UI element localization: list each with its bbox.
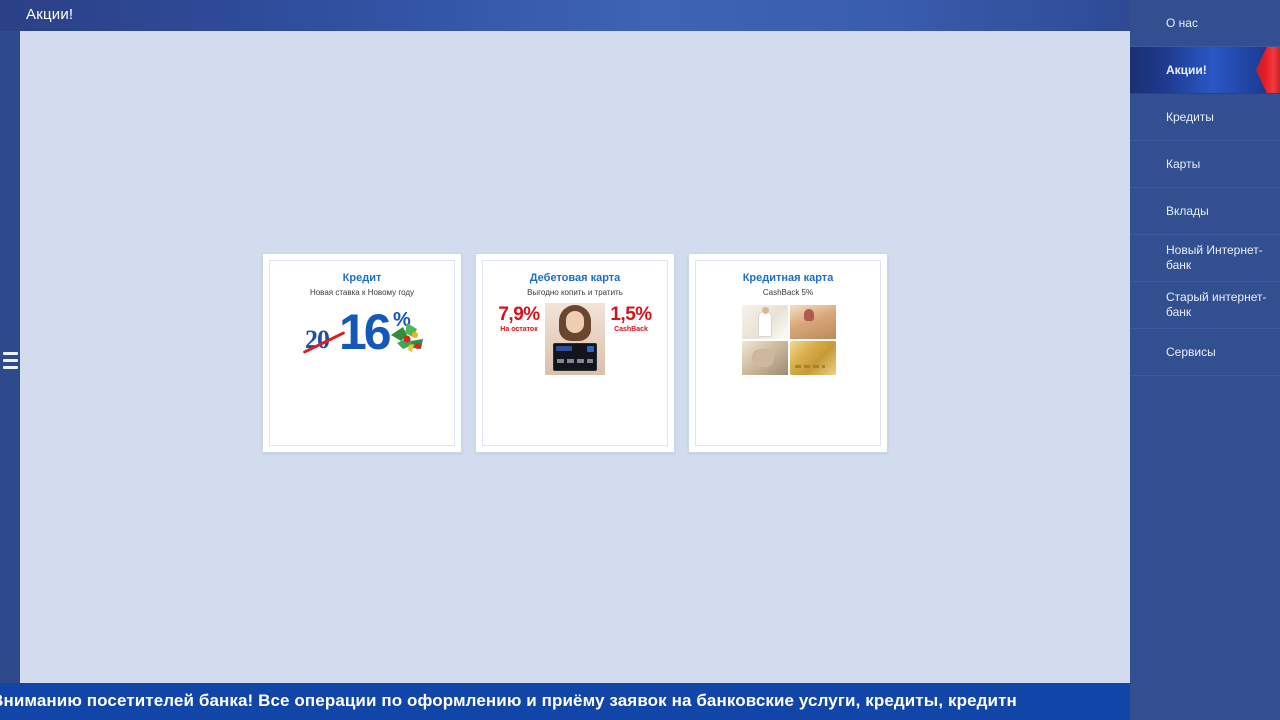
promo-card-subtitle: Новая ставка к Новому году: [278, 287, 446, 299]
sidebar-menu: О нас Акции! Кредиты Карты Вклады Новый …: [1130, 0, 1280, 720]
sidebar-item-label: Старый интернет-банк: [1166, 290, 1272, 320]
promo-card-subtitle: CashBack 5%: [704, 287, 872, 299]
rate-right-caption: CashBack: [607, 325, 655, 335]
rate-right-value: 1,5%: [607, 305, 655, 324]
sidebar-item-label: Вклады: [1166, 204, 1209, 219]
news-ticker: нка! Вниманию посетителей банка! Все опе…: [0, 683, 1280, 720]
sidebar-item-label: Сервисы: [1166, 345, 1216, 360]
page-title: Акции!: [26, 6, 73, 23]
hamburger-line: [3, 366, 18, 369]
promo-card-inner: Кредитная карта CashBack 5%: [695, 260, 881, 446]
holly-decoration-icon: [387, 317, 427, 357]
page-root: Кредит Новая ставка к Новому году 20 16 …: [0, 0, 1280, 720]
hamburger-icon[interactable]: [3, 352, 18, 369]
rate-left-caption: На остаток: [495, 325, 543, 335]
left-rail: [0, 0, 20, 720]
gold-card-photo: [790, 341, 836, 375]
sidebar-item-services[interactable]: Сервисы: [1130, 329, 1280, 376]
sidebar-item-old-internet-bank[interactable]: Старый интернет-банк: [1130, 282, 1280, 329]
family-photo: [742, 341, 788, 375]
promo-card-title: Кредитная карта: [704, 271, 872, 285]
bank-card-graphic: [553, 343, 597, 371]
sidebar-item-promotions[interactable]: Акции!: [1130, 47, 1280, 94]
hamburger-line: [3, 352, 18, 355]
sidebar-item-label: О нас: [1166, 16, 1198, 31]
promo-card-inner: Кредит Новая ставка к Новому году 20 16 …: [269, 260, 455, 446]
content-panel: Кредит Новая ставка к Новому году 20 16 …: [20, 31, 1130, 683]
promo-card-debit[interactable]: Дебетовая карта Выгодно копить и тратить…: [475, 253, 675, 453]
wine-photo: [790, 305, 836, 339]
card-number-strip: [557, 359, 593, 363]
sidebar-item-label: Карты: [1166, 157, 1200, 172]
card-chip-icon: [587, 346, 594, 352]
card-logo-band: [556, 346, 572, 351]
rate-right: 1,5% CashBack: [607, 305, 655, 335]
sidebar-item-about[interactable]: О нас: [1130, 0, 1280, 47]
woman-photo: [545, 303, 605, 375]
rate-left: 7,9% На остаток: [495, 305, 543, 335]
sidebar-item-label: Новый Интернет-банк: [1166, 243, 1272, 273]
sidebar-item-credits[interactable]: Кредиты: [1130, 94, 1280, 141]
promo-art-debit: 7,9% На остаток 1,5% CashBack: [495, 303, 655, 375]
promo-art-collage: [742, 305, 834, 375]
rate-number-text: 16: [339, 307, 389, 357]
promo-card-credit[interactable]: Кредит Новая ставка к Новому году 20 16 …: [262, 253, 462, 453]
promo-card-inner: Дебетовая карта Выгодно копить и тратить…: [482, 260, 668, 446]
sidebar-item-cards[interactable]: Карты: [1130, 141, 1280, 188]
promo-card-title: Дебетовая карта: [491, 271, 659, 285]
rate-left-value: 7,9%: [495, 305, 543, 324]
sidebar-item-label: Кредиты: [1166, 110, 1214, 125]
promo-card-title: Кредит: [278, 271, 446, 285]
active-ribbon-icon: [1256, 47, 1280, 93]
sidebar-item-label: Акции!: [1166, 63, 1207, 78]
promo-card-row: Кредит Новая ставка к Новому году 20 16 …: [262, 253, 888, 453]
ticker-text: нка! Вниманию посетителей банка! Все опе…: [0, 691, 1017, 711]
sidebar-item-deposits[interactable]: Вклады: [1130, 188, 1280, 235]
face-shape: [566, 311, 584, 333]
promo-card-credit-card[interactable]: Кредитная карта CashBack 5%: [688, 253, 888, 453]
sidebar-item-new-internet-bank[interactable]: Новый Интернет-банк: [1130, 235, 1280, 282]
promo-art-2016: 20 16 %: [297, 305, 427, 361]
doctor-photo: [742, 305, 788, 339]
hamburger-line: [3, 359, 18, 362]
promo-card-subtitle: Выгодно копить и тратить: [491, 287, 659, 299]
header-bar: Акции!: [0, 0, 1131, 31]
